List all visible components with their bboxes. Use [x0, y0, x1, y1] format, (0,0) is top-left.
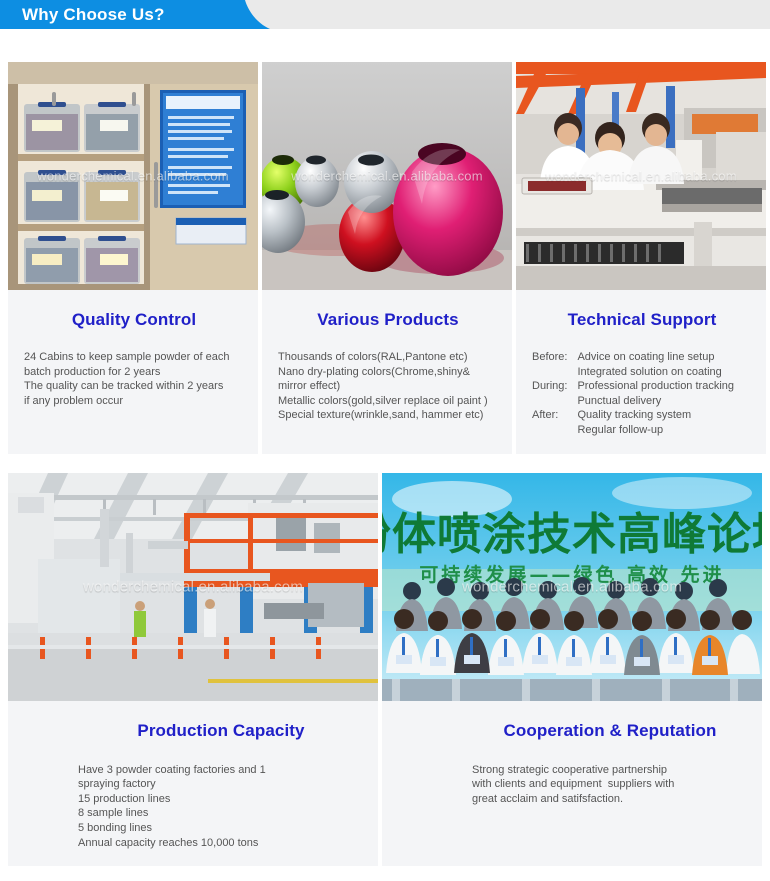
industry-forum-group-photo: 粉体喷涂技术高峰论坛 可持续发展——绿色 高效 先进	[382, 473, 762, 701]
table-row: After: Quality tracking system	[532, 408, 734, 423]
feature-card-technical-support: wonderchemical.en.alibaba.com Technical …	[516, 62, 766, 454]
table-row: Regular follow-up	[532, 423, 734, 438]
table-row: Integrated solution on coating	[532, 365, 734, 380]
feature-card-various-products: wonderchemical.en.alibaba.com Various Pr…	[262, 62, 512, 454]
feature-board: wonderchemical.en.alibaba.com Quality Co…	[0, 62, 770, 866]
card-title: Various Products	[278, 310, 498, 330]
engineers-at-coating-line-photo: wonderchemical.en.alibaba.com	[516, 62, 766, 290]
card-description: Strong strategic cooperative partnership…	[472, 763, 748, 807]
svg-text:粉体喷涂技术高峰论坛: 粉体喷涂技术高峰论坛	[382, 509, 762, 560]
card-body: Cooperation & Reputation Strong strategi…	[382, 701, 762, 823]
support-timeline-table: Before: Advice on coating line setup Int…	[532, 350, 734, 438]
support-label: During:	[532, 379, 574, 394]
card-title: Cooperation & Reputation	[472, 721, 748, 741]
card-title: Production Capacity	[78, 721, 364, 741]
card-title: Technical Support	[532, 310, 752, 330]
support-label	[532, 365, 574, 380]
feature-card-quality-control: wonderchemical.en.alibaba.com Quality Co…	[8, 62, 258, 454]
feature-row-top: wonderchemical.en.alibaba.com Quality Co…	[8, 62, 762, 454]
support-value: Punctual delivery	[574, 394, 734, 409]
card-description: Thousands of colors(RAL,Pantone etc) Nan…	[278, 350, 498, 423]
support-value: Advice on coating line setup	[574, 350, 734, 365]
support-label	[532, 394, 574, 409]
card-body: Technical Support Before: Advice on coat…	[516, 290, 766, 454]
glossy-coated-vases-photo: wonderchemical.en.alibaba.com	[262, 62, 512, 290]
table-row: During: Professional production tracking	[532, 379, 734, 394]
support-label: Before:	[532, 350, 574, 365]
card-title: Quality Control	[24, 310, 244, 330]
table-row: Punctual delivery	[532, 394, 734, 409]
support-label	[532, 423, 574, 438]
card-description: Have 3 powder coating factories and 1 sp…	[78, 763, 364, 851]
table-row: Before: Advice on coating line setup	[532, 350, 734, 365]
card-body: Various Products Thousands of colors(RAL…	[262, 290, 512, 439]
support-value: Integrated solution on coating	[574, 365, 734, 380]
svg-text:可持续发展——绿色 高效 先进: 可持续发展——绿色 高效 先进	[419, 563, 724, 586]
card-body: Production Capacity Have 3 powder coatin…	[8, 701, 378, 867]
feature-card-cooperation-reputation: 粉体喷涂技术高峰论坛 可持续发展——绿色 高效 先进	[382, 473, 762, 867]
page-header: Why Choose Us?	[0, 0, 770, 29]
feature-row-bottom: wonderchemical.en.alibaba.com Production…	[8, 473, 762, 867]
feature-card-production-capacity: wonderchemical.en.alibaba.com Production…	[8, 473, 378, 867]
support-value: Quality tracking system	[574, 408, 734, 423]
support-label: After:	[532, 408, 574, 423]
page-title: Why Choose Us?	[22, 0, 165, 29]
support-value: Professional production tracking	[574, 379, 734, 394]
card-description: 24 Cabins to keep sample powder of each …	[24, 350, 244, 408]
support-value: Regular follow-up	[574, 423, 734, 438]
sample-storage-cabinet-photo: wonderchemical.en.alibaba.com	[8, 62, 258, 290]
factory-production-hall-photo: wonderchemical.en.alibaba.com	[8, 473, 378, 701]
card-body: Quality Control 24 Cabins to keep sample…	[8, 290, 258, 424]
